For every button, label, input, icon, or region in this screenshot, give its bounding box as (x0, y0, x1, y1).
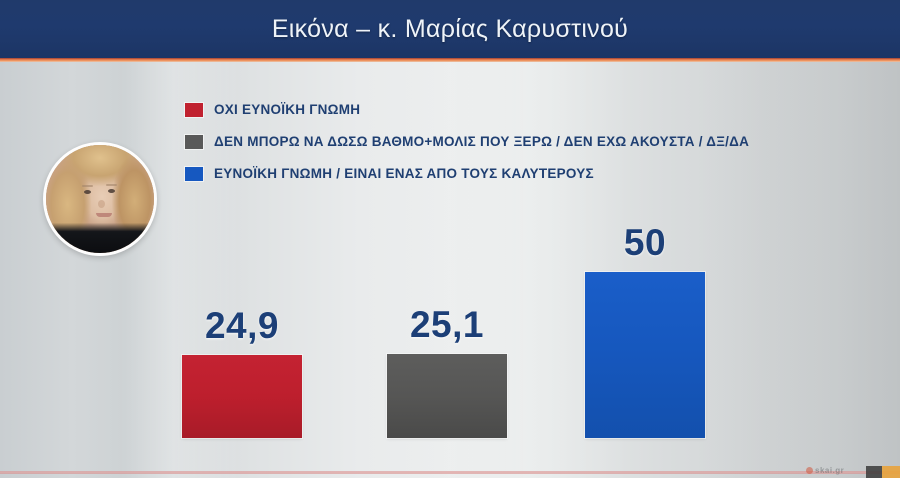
legend-label: ΕΥΝΟΪΚΗ ΓΝΩΜΗ / ΕΙΝΑΙ ΕΝΑΣ ΑΠΟ ΤΟΥΣ ΚΑΛΥ… (214, 166, 594, 181)
logo-dot-icon (806, 467, 813, 474)
footer-badge-dark (866, 466, 882, 478)
bar-value-label: 25,1 (387, 304, 507, 346)
legend-item-no-favourable: ΟΧΙ ΕΥΝΟΪΚΗ ΓΝΩΜΗ (185, 101, 749, 118)
legend-label: ΟΧΙ ΕΥΝΟΪΚΗ ΓΝΩΜΗ (214, 102, 360, 117)
avatar-nose (98, 200, 105, 208)
bar-value-label: 50 (585, 222, 705, 264)
avatar-photo (46, 145, 154, 253)
legend-swatch-blue-icon (185, 167, 203, 181)
legend-swatch-gray-icon (185, 135, 203, 149)
avatar-eye-left (84, 190, 91, 194)
legend-swatch-red-icon (185, 103, 203, 117)
avatar-mouth (96, 213, 112, 217)
bar-no-opinion (387, 354, 507, 438)
footer-badge (866, 466, 900, 478)
chart-legend: ΟΧΙ ΕΥΝΟΪΚΗ ΓΝΩΜΗ ΔΕΝ ΜΠΟΡΩ ΝΑ ΔΩΣΩ ΒΑΘΜ… (185, 101, 749, 182)
avatar-brow-left (82, 185, 93, 187)
bar-favourable (585, 272, 705, 438)
legend-label: ΔΕΝ ΜΠΟΡΩ ΝΑ ΔΩΣΩ ΒΑΘΜΟ+ΜΟΛΙΣ ΠΟΥ ΞΕΡΩ /… (214, 134, 749, 149)
avatar (43, 142, 157, 256)
header-accent-stripe (0, 58, 900, 62)
logo-text: skai.gr (815, 467, 844, 475)
header-band: Εικόνα – κ. Μαρίας Καρυστινού (0, 0, 900, 58)
footer-divider (0, 471, 900, 474)
legend-item-no-opinion: ΔΕΝ ΜΠΟΡΩ ΝΑ ΔΩΣΩ ΒΑΘΜΟ+ΜΟΛΙΣ ΠΟΥ ΞΕΡΩ /… (185, 133, 749, 150)
channel-logo: skai.gr (806, 463, 864, 478)
footer-badge-orange (882, 466, 900, 478)
bar-value-label: 24,9 (182, 305, 302, 347)
bar-no-favourable (182, 355, 302, 438)
avatar-brow-right (106, 184, 117, 186)
legend-item-favourable: ΕΥΝΟΪΚΗ ΓΝΩΜΗ / ΕΙΝΑΙ ΕΝΑΣ ΑΠΟ ΤΟΥΣ ΚΑΛΥ… (185, 165, 749, 182)
page-title: Εικόνα – κ. Μαρίας Καρυστινού (272, 15, 628, 44)
avatar-eye-right (108, 189, 115, 193)
broadcast-chart-screen: Εικόνα – κ. Μαρίας Καρυστινού ΟΧΙ ΕΥΝΟΪΚ… (0, 0, 900, 478)
